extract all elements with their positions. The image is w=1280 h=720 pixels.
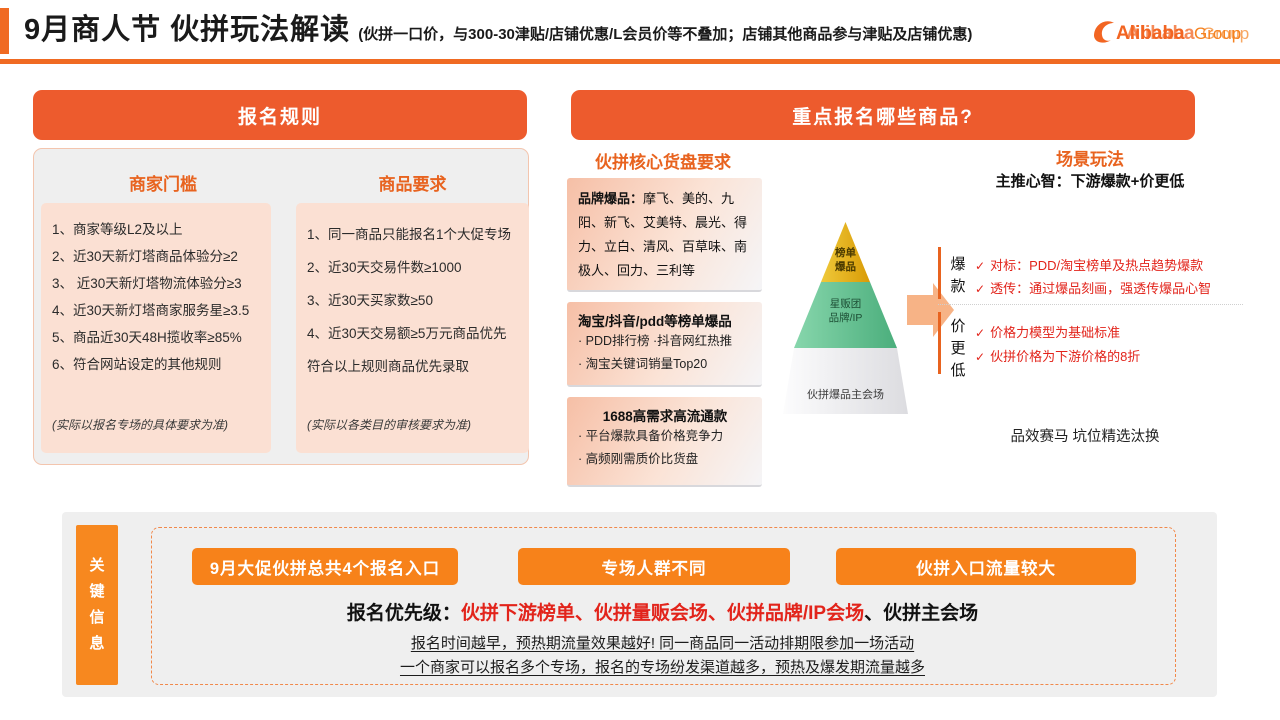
brand-card-label: 品牌爆品： bbox=[578, 191, 643, 206]
priority-tail: 、伙拼主会场 bbox=[864, 603, 978, 624]
ranking-card-line: · 淘宝关键词销量Top20 bbox=[578, 353, 752, 376]
key-info-note-1: 报名时间越早，预热期流量效果越好! 同一商品同一活动排期限参加一场活动 bbox=[151, 632, 1174, 653]
annotation-bar-hot bbox=[938, 247, 941, 299]
check-icon: ✓ bbox=[975, 259, 985, 273]
ranking-hot-products-card: 淘宝/抖音/pdd等榜单爆品 · PDD排行榜 ·抖音网红热推 · 淘宝关键词销… bbox=[567, 302, 762, 387]
pyramid-top-label: 榜单爆品 bbox=[783, 246, 908, 274]
ranking-card-body: 淘宝/抖音/pdd等榜单爆品 · PDD排行榜 ·抖音网红热推 · 淘宝关键词销… bbox=[567, 302, 762, 376]
priority-highlight: 伙拼下游榜单、伙拼量贩会场、伙拼品牌/IP会场 bbox=[461, 603, 864, 624]
svg-text:Group: Group bbox=[1202, 24, 1249, 43]
product-requirement-title: 商品要求 bbox=[300, 170, 525, 195]
scene-play-subtitle: 主推心智：下游爆款+价更低 bbox=[905, 170, 1275, 191]
annotation-item: ✓透传：通过爆品刻画，强透传爆品心智 bbox=[975, 277, 1211, 301]
list-item: 2、近30天新灯塔商品体验分≥2 bbox=[52, 243, 271, 270]
list-item: 3、 近30天新灯塔物流体验分≥3 bbox=[52, 270, 271, 297]
merchant-threshold-box: 1、商家等级L2及以上 2、近30天新灯塔商品体验分≥2 3、 近30天新灯塔物… bbox=[41, 203, 271, 453]
registration-rules-header: 报名规则 bbox=[33, 90, 527, 140]
product-rules-list: 1、同一商品只能报名1个大促专场 2、近30天交易件数≥1000 3、近30天买… bbox=[296, 203, 529, 383]
alibaba-group-logo: Alibaba Alibaba Group Group bbox=[1090, 14, 1266, 48]
slide-root: 9月商人节 伙拼玩法解读 (伙拼一口价，与300-30津贴/店铺优惠/L会员价等… bbox=[0, 0, 1280, 720]
annotation-text: 伙拼价格为下游价格的8折 bbox=[990, 349, 1140, 364]
demand-card-body: 1688高需求高流通款 · 平台爆款具备价格竞争力 · 高频刚需质价比货盘 bbox=[567, 397, 762, 471]
list-item: 6、符合网站设定的其他规则 bbox=[52, 351, 271, 378]
annotation-text: 价格力模型为基础标准 bbox=[990, 325, 1120, 340]
high-demand-products-card: 1688高需求高流通款 · 平台爆款具备价格竞争力 · 高频刚需质价比货盘 bbox=[567, 397, 762, 487]
key-info-note-2: 一个商家可以报名多个专场，报名的专场纷发渠道越多，预热及爆发期流量越多 bbox=[151, 656, 1174, 677]
list-item: 4、近30天交易额≥5万元商品优先 bbox=[307, 317, 529, 350]
list-item: 1、同一商品只能报名1个大促专场 bbox=[307, 218, 529, 251]
annotation-item: ✓对标：PDD/淘宝榜单及热点趋势爆款 bbox=[975, 254, 1203, 278]
annotation-item: ✓价格力模型为基础标准 bbox=[975, 321, 1120, 345]
scene-play-title: 场景玩法 bbox=[955, 145, 1225, 170]
check-icon: ✓ bbox=[975, 350, 985, 364]
page-subtitle: (伙拼一口价，与300-30津贴/店铺优惠/L会员价等不叠加；店铺其他商品参与津… bbox=[358, 11, 972, 59]
key-info-label: 关键信息 bbox=[76, 525, 118, 685]
svg-text:Alibaba: Alibaba bbox=[1126, 23, 1195, 44]
header-title-group: 9月商人节 伙拼玩法解读 (伙拼一口价，与300-30津贴/店铺优惠/L会员价等… bbox=[24, 6, 972, 59]
list-item: 3、近30天买家数≥50 bbox=[307, 284, 529, 317]
priority-line: 报名优先级：伙拼下游榜单、伙拼量贩会场、伙拼品牌/IP会场、伙拼主会场 bbox=[151, 598, 1174, 625]
merchant-rules-list: 1、商家等级L2及以上 2、近30天新灯塔商品体验分≥2 3、 近30天新灯塔物… bbox=[41, 203, 271, 378]
list-item: 5、商品近30天48H揽收率≥85% bbox=[52, 324, 271, 351]
pyramid-tier-bottom bbox=[783, 348, 908, 414]
annotation-bar-price bbox=[938, 312, 941, 374]
scene-footer-note: 品效赛马 坑位精选汰换 bbox=[930, 425, 1240, 446]
key-pill-entries[interactable]: 9月大促伙拼总共4个报名入口 bbox=[192, 548, 458, 585]
annotation-key-hot: 爆款 bbox=[948, 254, 968, 298]
product-rules-note: (实际以各类目的审核要求为准) bbox=[307, 412, 471, 439]
key-info-note-text: 报名时间越早，预热期流量效果越好! 同一商品同一活动排期限参加一场活动 bbox=[411, 635, 914, 652]
key-pill-traffic[interactable]: 伙拼入口流量较大 bbox=[836, 548, 1136, 585]
pyramid-middle-label: 星贩团品牌/IP bbox=[783, 297, 908, 325]
annotation-text: 对标：PDD/淘宝榜单及热点趋势爆款 bbox=[990, 258, 1203, 273]
product-requirement-box: 1、同一商品只能报名1个大促专场 2、近30天交易件数≥1000 3、近30天买… bbox=[296, 203, 529, 453]
ranking-card-line: · PDD排行榜 ·抖音网红热推 bbox=[578, 330, 752, 353]
annotation-text: 透传：通过爆品刻画，强透传爆品心智 bbox=[990, 281, 1211, 296]
page-title: 9月商人节 伙拼玩法解读 bbox=[24, 6, 350, 54]
brand-hot-products-card: 品牌爆品：摩飞、美的、九阳、新飞、艾美特、晨光、得力、立白、清风、百草味、南极人… bbox=[567, 178, 762, 292]
merchant-threshold-title: 商家门槛 bbox=[58, 170, 268, 195]
key-info-note-text: 一个商家可以报名多个专场，报名的专场纷发渠道越多，预热及爆发期流量越多 bbox=[400, 659, 925, 676]
list-item: 2、近30天交易件数≥1000 bbox=[307, 251, 529, 284]
header-accent-bar bbox=[0, 8, 9, 54]
check-icon: ✓ bbox=[975, 282, 985, 296]
brand-card-text: 品牌爆品：摩飞、美的、九阳、新飞、艾美特、晨光、得力、立白、清风、百草味、南极人… bbox=[567, 178, 762, 283]
demand-card-line: · 高频刚需质价比货盘 bbox=[578, 448, 752, 471]
annotation-key-price: 价更低 bbox=[948, 316, 968, 382]
slide-header: 9月商人节 伙拼玩法解读 (伙拼一口价，与300-30津贴/店铺优惠/L会员价等… bbox=[0, 0, 1280, 62]
header-underline bbox=[0, 59, 1280, 64]
core-supply-title: 伙拼核心货盘要求 bbox=[568, 148, 758, 173]
list-item: 符合以上规则商品优先录取 bbox=[307, 350, 529, 383]
demand-card-line: · 平台爆款具备价格竞争力 bbox=[578, 425, 752, 448]
list-item: 1、商家等级L2及以上 bbox=[52, 216, 271, 243]
pyramid-bottom-label: 伙拼爆品主会场 bbox=[783, 388, 908, 402]
annotation-divider bbox=[938, 304, 1243, 305]
key-products-header: 重点报名哪些商品? bbox=[571, 90, 1195, 140]
priority-prefix: 报名优先级： bbox=[347, 603, 461, 624]
merchant-rules-note: (实际以报名专场的具体要求为准) bbox=[52, 412, 228, 439]
key-pill-audience[interactable]: 专场人群不同 bbox=[518, 548, 790, 585]
demand-card-title: 1688高需求高流通款 bbox=[578, 405, 752, 425]
annotation-item: ✓伙拼价格为下游价格的8折 bbox=[975, 345, 1140, 369]
check-icon: ✓ bbox=[975, 326, 985, 340]
list-item: 4、近30天新灯塔商家服务星≥3.5 bbox=[52, 297, 271, 324]
ranking-card-title: 淘宝/抖音/pdd等榜单爆品 bbox=[578, 310, 752, 330]
